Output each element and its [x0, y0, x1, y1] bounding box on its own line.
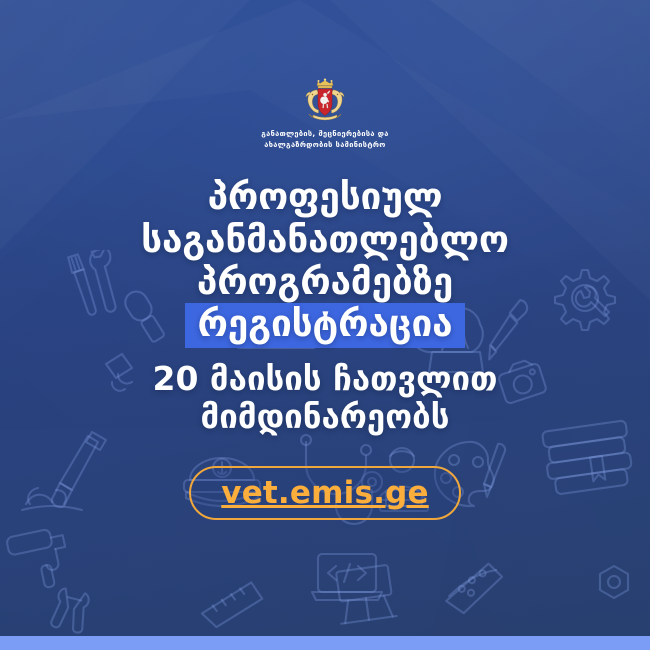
bottom-accent-bar — [0, 636, 650, 650]
poster-content: განათლების, მეცნიერებისა და ახალგაზრდობი… — [0, 0, 650, 650]
ministry-name-line2: ახალგაზრდობის სამინისტრო — [264, 140, 385, 149]
ministry-name: განათლების, მეცნიერებისა და ახალგაზრდობი… — [261, 129, 389, 150]
poster-canvas: განათლების, მეცნიერებისა და ახალგაზრდობი… — [0, 0, 650, 650]
headline-highlight-line: რეგისტრაცია — [141, 303, 509, 348]
deadline-line-2: მიმდინარეობს — [153, 398, 498, 436]
ministry-branding: განათლების, მეცნიერებისა და ახალგაზრდობი… — [261, 78, 389, 150]
georgian-coat-of-arms-icon — [305, 78, 345, 122]
headline-line-2: საგანმანათლებლო — [141, 219, 509, 261]
deadline-line-1: 20 მაისის ჩათვლით — [153, 360, 498, 398]
page-title: პროფესიულ საგანმანათლებლო პროგრამებზე რე… — [141, 176, 509, 347]
headline-line-3: პროგრამებზე — [141, 261, 509, 303]
headline-line-1: პროფესიულ — [141, 176, 509, 218]
website-url-button[interactable]: vet.emis.ge — [189, 466, 460, 520]
deadline-text: 20 მაისის ჩათვლით მიმდინარეობს — [153, 360, 498, 437]
registration-highlight: რეგისტრაცია — [185, 303, 466, 348]
ministry-name-line1: განათლების, მეცნიერებისა და — [261, 129, 389, 138]
